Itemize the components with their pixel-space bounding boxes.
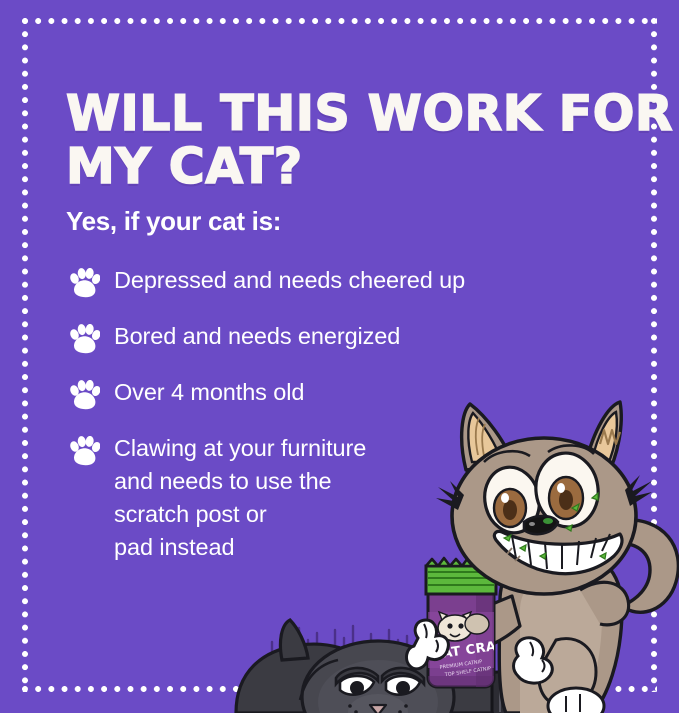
grumpy-eyes: [336, 668, 424, 695]
svg-text:PREMIUM CATNIP: PREMIUM CATNIP: [439, 659, 482, 671]
list-item-line: Depressed and needs cheered up: [114, 264, 465, 297]
left-paw: [407, 620, 449, 669]
headline-line-1: WILL THIS WORK FOR: [66, 87, 606, 140]
toothy-grin: [494, 531, 622, 573]
scratch-pad-base: [492, 672, 566, 713]
catnip-flecks: [504, 493, 606, 559]
right-paw: [514, 638, 553, 683]
list-item: Over 4 months old: [68, 376, 488, 410]
cat-eyes: [479, 445, 603, 537]
list-item-line: Clawing at your furniture: [114, 432, 366, 465]
list-item-text: Clawing at your furniture and needs to u…: [114, 432, 366, 564]
border-left-dots: [22, 18, 28, 692]
right-whisker-tuft: [625, 475, 652, 506]
hind-foot: [548, 688, 604, 713]
list-item: Clawing at your furniture and needs to u…: [68, 432, 488, 564]
scratch-motion-lines: [272, 626, 416, 704]
list-item: Bored and needs energized: [68, 320, 488, 354]
headline-line-2: MY CAT?: [66, 140, 606, 193]
paw-print-icon: [68, 436, 100, 466]
list-item-line: and needs to use the: [114, 465, 366, 498]
svg-text:CAT CRACK: CAT CRACK: [431, 636, 518, 663]
list-item-text: Depressed and needs cheered up: [114, 264, 465, 297]
list-item-line: pad instead: [114, 531, 366, 564]
list-item-line: Bored and needs energized: [114, 320, 400, 353]
paw-print-icon: [68, 324, 100, 354]
list-item: Depressed and needs cheered up: [68, 264, 488, 298]
qualification-list: Depressed and needs cheered up Bored and…: [68, 264, 488, 586]
infographic-card: CAT CRACK PREMIUM CATNIP TOP SHELF CATNI…: [0, 0, 679, 713]
paw-print-icon: [68, 268, 100, 298]
border-top-dots: [22, 18, 657, 24]
svg-text:TOP SHELF CATNIP: TOP SHELF CATNIP: [443, 666, 491, 679]
page-title: WILL THIS WORK FOR MY CAT?: [66, 87, 606, 193]
list-item-text: Over 4 months old: [114, 376, 304, 409]
border-bottom-dots: [22, 686, 657, 692]
list-item-line: scratch post or: [114, 498, 366, 531]
list-item-text: Bored and needs energized: [114, 320, 400, 353]
list-item-line: Over 4 months old: [114, 376, 304, 409]
paw-print-icon: [68, 380, 100, 410]
subheading: Yes, if your cat is:: [66, 206, 281, 236]
grumpy-black-cat: [236, 620, 506, 713]
